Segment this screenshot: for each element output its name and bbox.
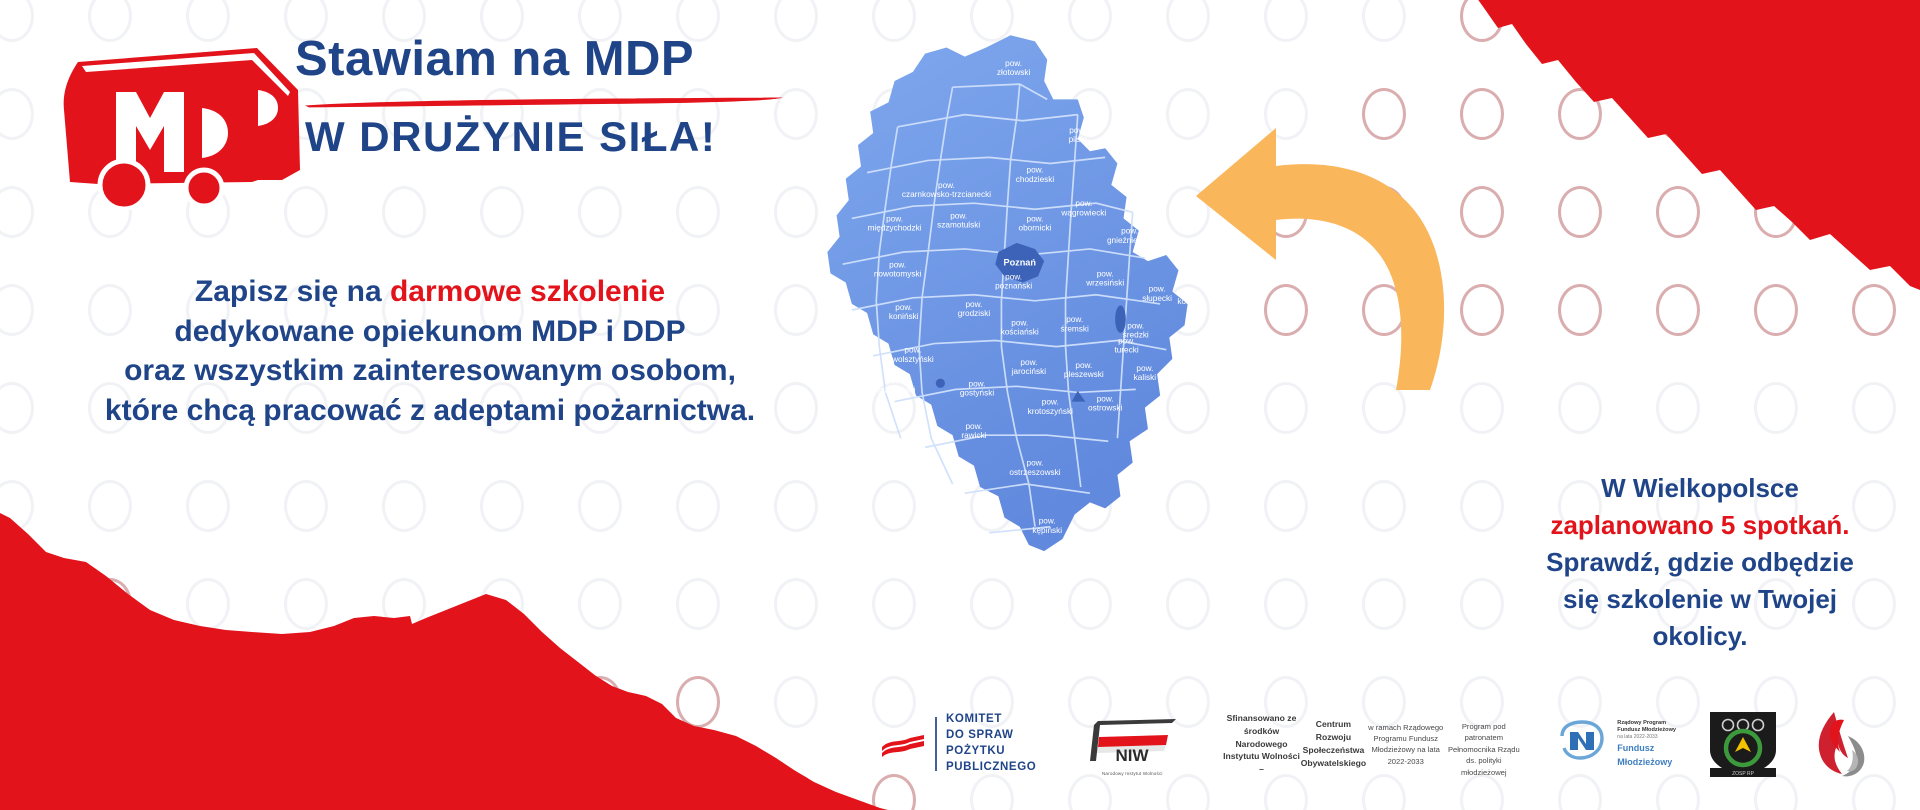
decorative-circle: [1460, 0, 1504, 42]
decorative-circle: [578, 578, 622, 630]
headline-block: Stawiam na MDP W DRUŻYNIE SIŁA!: [295, 34, 815, 160]
poland-flag-icon: [880, 729, 926, 759]
powiat-label: pow.leszczyński: [874, 376, 916, 394]
powiat-label: pow.kaliski: [1134, 364, 1157, 382]
niw-subtitle: Narodowy Instytut Wolności: [1102, 771, 1163, 777]
decorative-circle: [186, 578, 230, 630]
decorative-circle: [578, 480, 622, 532]
decorative-circle: [1852, 186, 1896, 238]
decorative-circle: [774, 774, 818, 810]
decorative-circle: [1852, 382, 1896, 434]
decorative-circle: [578, 774, 622, 810]
capital-label: Poznań: [1003, 258, 1036, 268]
mdp-logo: MDP: [52, 30, 312, 210]
decorative-circle: [480, 774, 524, 810]
decorative-circle: [1362, 382, 1406, 434]
decorative-circle: [676, 578, 720, 630]
rpfm-line-4: Fundusz: [1617, 743, 1676, 754]
decorative-circle: [1264, 382, 1308, 434]
decorative-circle: [0, 676, 34, 728]
decorative-circle: [0, 774, 34, 810]
decorative-circle: [1460, 88, 1504, 140]
decorative-circle: [1264, 0, 1308, 42]
powiat-label: pow.pilski: [1069, 126, 1087, 144]
osp-shield-icon: ZOSP RP: [1704, 706, 1782, 782]
decorative-circle: [1460, 186, 1504, 238]
red-underline-stroke: [303, 95, 785, 107]
decorative-circle: [88, 774, 132, 810]
copy-line-4: które chcą pracować z adeptami pożarnict…: [60, 391, 800, 431]
decorative-circle: [382, 480, 426, 532]
kdsp-line-2: DO SPRAW: [946, 728, 1036, 744]
decorative-circle: [382, 578, 426, 630]
decorative-circle: [1656, 88, 1700, 140]
decorative-circle: [284, 480, 328, 532]
flame-emblem: [1804, 706, 1874, 782]
fundusz-swoosh-icon: [1554, 716, 1610, 772]
funding-bold-1: Sfinansowano ze środków Narodowego Insty…: [1222, 712, 1300, 776]
decorative-circle: [1656, 186, 1700, 238]
decorative-circle: [1362, 0, 1406, 42]
decorative-circle: [88, 676, 132, 728]
decorative-circle: [0, 88, 34, 140]
decorative-circle: [1754, 0, 1798, 42]
decorative-circle: [1558, 284, 1602, 336]
rpfm-line-5: Młodzieżowy: [1617, 757, 1676, 768]
headline-line-2: W DRUŻYNIE SIŁA!: [305, 115, 815, 159]
decorative-circle: [578, 676, 622, 728]
wielkopolska-map: pow.złotowskipow.pilskipow.chodzieskipow…: [800, 20, 1270, 600]
promo-line-1: W Wielkopolsce: [1500, 470, 1900, 507]
decorative-circle: [1656, 382, 1700, 434]
decorative-circle: [480, 676, 524, 728]
decorative-circle: [0, 382, 34, 434]
decorative-circle: [186, 676, 230, 728]
decorative-circle: [1460, 284, 1504, 336]
rpfm-line-2: Fundusz Młodzieżowy: [1617, 727, 1676, 734]
flame-icon: [1804, 706, 1874, 782]
decorative-circle: [1852, 284, 1896, 336]
decorative-circle: [382, 186, 426, 238]
copy-line-3: oraz wszystkim zainteresowanym osobom,: [60, 351, 800, 391]
kdsp-logo: KOMITET DO SPRAW POŻYTKU PUBLICZNEGO: [880, 712, 1036, 775]
decorative-circle: [1754, 382, 1798, 434]
decorative-circle: [1362, 480, 1406, 532]
decorative-circle: [1362, 578, 1406, 630]
decorative-circle: [676, 480, 720, 532]
funding-statement: Sfinansowano ze środków Narodowego Insty…: [1222, 710, 1522, 778]
fundusz-mlodziezowy-logo: Rządowy Program Fundusz Młodzieżowy na l…: [1554, 716, 1676, 772]
kdsp-text: KOMITET DO SPRAW POŻYTKU PUBLICZNEGO: [946, 712, 1036, 775]
decorative-circle: [676, 186, 720, 238]
kdsp-line-3: POŻYTKU: [946, 744, 1036, 760]
funding-bold-2: Centrum Rozwoju Społeczeństwa Obywatelsk…: [1301, 718, 1366, 770]
decorative-circle: [578, 186, 622, 238]
promo-text-block: W Wielkopolsce zaplanowano 5 spotkań. Sp…: [1500, 470, 1900, 655]
osp-emblem: ZOSP RP: [1704, 706, 1782, 782]
decorative-circle: [284, 774, 328, 810]
decorative-circle: [0, 578, 34, 630]
decorative-circle: [1558, 382, 1602, 434]
mdp-logo-text: MDP: [52, 30, 55, 31]
copy-line-2: dedykowane opiekunom MDP i DDP: [60, 312, 800, 352]
decorative-circle: [1362, 186, 1406, 238]
decorative-circle: [88, 578, 132, 630]
decorative-circle: [1754, 284, 1798, 336]
decorative-circle: [1656, 0, 1700, 42]
decorative-circle: [1558, 186, 1602, 238]
fundusz-text: Rządowy Program Fundusz Młodzieżowy na l…: [1617, 720, 1676, 768]
funding-patron: Program pod patronatem Pełnomocnika Rząd…: [1445, 721, 1522, 778]
decorative-circle: [1558, 0, 1602, 42]
decorative-circle: [382, 774, 426, 810]
osp-sub: ZOSP RP: [1732, 771, 1755, 777]
decorative-circle: [382, 676, 426, 728]
decorative-circle: [1460, 382, 1504, 434]
powiat-label: pow.kolski: [1177, 288, 1198, 306]
decorative-circle: [186, 774, 230, 810]
decorative-circle: [1362, 284, 1406, 336]
decorative-circle: [1264, 480, 1308, 532]
decorative-circle: [676, 774, 720, 810]
rpfm-line-3: na lata 2022-2033: [1617, 734, 1676, 740]
decorative-circle: [1460, 480, 1504, 532]
decorative-circle: [186, 480, 230, 532]
footer-logo-strip: KOMITET DO SPRAW POŻYTKU PUBLICZNEGO NIW…: [880, 688, 1910, 800]
promo-line-2: zaplanowano 5 spotkań.: [1500, 507, 1900, 544]
decorative-circle: [1754, 186, 1798, 238]
kdsp-line-4: PUBLICZNEGO: [946, 760, 1036, 776]
decorative-circle: [480, 186, 524, 238]
decorative-circle: [0, 186, 34, 238]
copy-line-1-highlight: darmowe szkolenie: [390, 275, 665, 308]
decorative-circle: [1362, 88, 1406, 140]
map-regions: [827, 35, 1187, 551]
decorative-circle: [0, 480, 34, 532]
headline-line-1: Stawiam na MDP: [295, 34, 815, 85]
kdsp-divider: [935, 717, 937, 771]
map-lake: [1115, 305, 1126, 332]
promo-line-4: się szkolenie w Twojej: [1500, 581, 1900, 618]
decorative-circle: [676, 676, 720, 728]
poster-canvas: MDP Stawiam na MDP W DRUŻYNIE SIŁA! Zapi…: [0, 0, 1920, 810]
kdsp-line-1: KOMITET: [946, 712, 1036, 728]
decorative-circle: [480, 480, 524, 532]
copy-line-1-prefix: Zapisz się na: [195, 275, 390, 308]
niw-acronym: NIW: [1116, 746, 1150, 765]
decorative-circle: [284, 676, 328, 728]
funding-small: w ramach Rządowego Programu Fundusz Młod…: [1366, 722, 1445, 768]
decorative-circle: [1852, 88, 1896, 140]
decorative-circle: [0, 284, 34, 336]
body-copy: Zapisz się na darmowe szkolenie dedykowa…: [60, 272, 800, 430]
decorative-circle: [1264, 284, 1308, 336]
promo-line-5: okolicy.: [1500, 618, 1900, 655]
decorative-circle: [1460, 578, 1504, 630]
niw-flag-icon: NIW: [1080, 711, 1184, 769]
decorative-circle: [0, 0, 34, 42]
decorative-circle: [1264, 88, 1308, 140]
decorative-circle: [774, 676, 818, 728]
decorative-circle: [1656, 284, 1700, 336]
decorative-circle: [1558, 88, 1602, 140]
decorative-circle: [1852, 0, 1896, 42]
copy-line-1: Zapisz się na darmowe szkolenie: [60, 272, 800, 312]
promo-line-3: Sprawdź, gdzie odbędzie: [1500, 544, 1900, 581]
decorative-circle: [480, 578, 524, 630]
decorative-circle: [1264, 578, 1308, 630]
map-marker: [936, 379, 945, 388]
decorative-circle: [284, 578, 328, 630]
decorative-circle: [88, 480, 132, 532]
decorative-circle: [1754, 88, 1798, 140]
niw-logo: NIW Narodowy Instytut Wolności: [1080, 711, 1184, 777]
rpfm-line-1: Rządowy Program: [1617, 720, 1676, 727]
decorative-circle: [1264, 186, 1308, 238]
